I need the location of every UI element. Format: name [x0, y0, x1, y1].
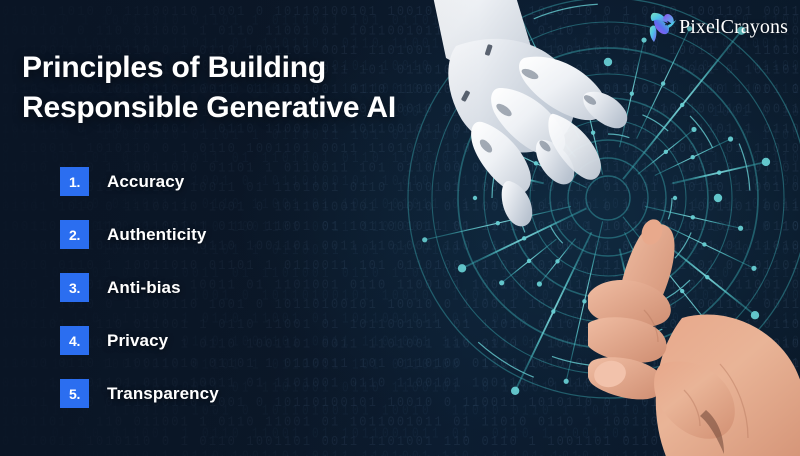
page-title: Principles of Building Responsible Gener… — [22, 48, 492, 128]
list-item: 1. Accuracy — [60, 167, 219, 196]
list-item-number: 2. — [60, 220, 89, 249]
list-item-number: 4. — [60, 326, 89, 355]
list-item-number: 5. — [60, 379, 89, 408]
brand-logo-text: PixelCrayons — [679, 16, 788, 39]
list-item-number: 1. — [60, 167, 89, 196]
slide-canvas: 01101 1010 0 11100110 1001 0 10110100101… — [0, 0, 800, 456]
list-item-label: Anti-bias — [107, 278, 181, 298]
page-title-line-2: Responsible Generative AI — [22, 88, 492, 128]
list-item-label: Transparency — [107, 384, 219, 404]
list-item: 5. Transparency — [60, 379, 219, 408]
list-item-label: Privacy — [107, 331, 168, 351]
page-title-line-1: Principles of Building — [22, 48, 492, 88]
list-item: 4. Privacy — [60, 326, 219, 355]
list-item-label: Authenticity — [107, 225, 206, 245]
hummingbird-icon — [648, 11, 676, 43]
list-item: 3. Anti-bias — [60, 273, 219, 302]
list-item: 2. Authenticity — [60, 220, 219, 249]
brand-logo: PixelCrayons — [648, 10, 788, 44]
list-item-label: Accuracy — [107, 172, 184, 192]
list-item-number: 3. — [60, 273, 89, 302]
principles-list: 1. Accuracy 2. Authenticity 3. Anti-bias… — [60, 167, 219, 408]
